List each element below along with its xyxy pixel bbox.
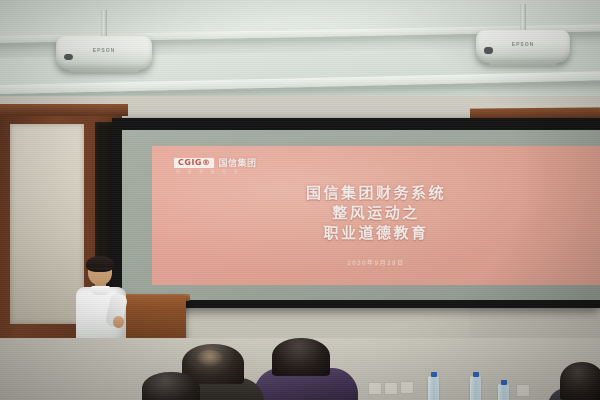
water-bottle xyxy=(498,384,509,400)
projector-lens-left xyxy=(64,54,74,61)
water-bottle xyxy=(428,376,439,400)
projector-left: EPSON xyxy=(56,36,152,70)
water-bottle xyxy=(470,376,481,400)
presentation-slide: CGIG ® 国信集团 创 造 幸 福 生 活 国信集团财务系统 整风运动之 职… xyxy=(152,146,600,285)
logo-company-name-cn: 国信集团 xyxy=(218,156,256,169)
logo-subtitle: 创 造 幸 福 生 活 xyxy=(176,169,241,175)
left-wall-top-trim xyxy=(0,104,128,116)
audience-head-2-balding xyxy=(196,350,224,367)
name-card xyxy=(400,381,414,394)
name-card xyxy=(384,382,398,395)
eyeglasses-icon xyxy=(89,268,111,273)
presenter-collar xyxy=(91,286,110,295)
projector-foot-right xyxy=(489,62,557,67)
projector-right: EPSON xyxy=(476,30,570,63)
slide-title-block: 国信集团财务系统 整风运动之 职业道德教育 xyxy=(152,184,600,243)
conference-room-photo: EPSON EPSON CGIG ® 国信集团 创 造 幸 福 生 xyxy=(0,0,600,400)
slide-title-line-3: 职业道德教育 xyxy=(152,224,600,244)
presenter-hand xyxy=(113,316,124,328)
name-card xyxy=(368,382,382,395)
projector-body-left: EPSON xyxy=(56,36,152,70)
audience-head-4 xyxy=(560,362,600,400)
projector-foot-left xyxy=(69,69,138,74)
logo-mark-text: CGIG xyxy=(178,159,202,167)
slide-date: 2020年9月28日 xyxy=(152,258,600,267)
name-card xyxy=(516,384,530,397)
audience-head-1 xyxy=(142,372,200,400)
logo-mark-cgig: CGIG ® xyxy=(174,158,214,168)
company-logo: CGIG ® 国信集团 xyxy=(174,156,257,169)
audience-head-3 xyxy=(272,338,330,376)
registered-trademark-icon: ® xyxy=(202,159,211,167)
slide-title-line-1: 国信集团财务系统 xyxy=(152,184,600,204)
slide-title-line-2: 整风运动之 xyxy=(152,204,600,224)
projector-lens-right xyxy=(484,47,493,54)
projector-body-right: EPSON xyxy=(476,30,570,63)
